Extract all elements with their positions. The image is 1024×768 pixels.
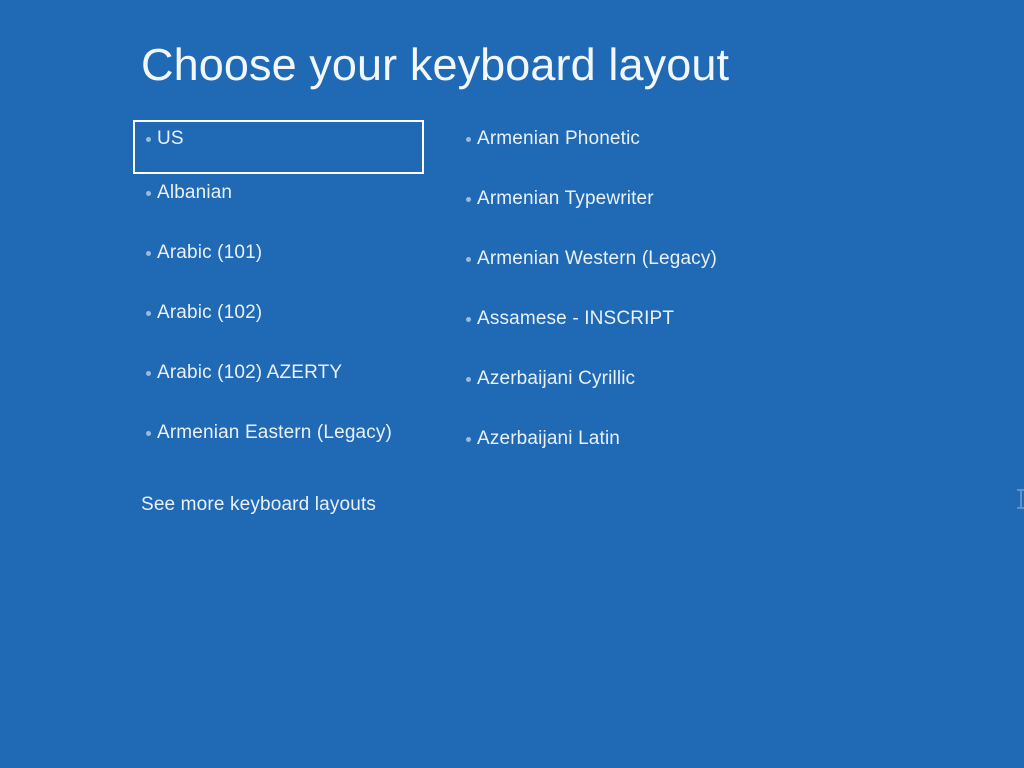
- keyboard-layout-item-label: Azerbaijani Latin: [477, 426, 620, 452]
- bullet-icon: [466, 317, 471, 322]
- keyboard-layout-item-label: Arabic (102) AZERTY: [157, 360, 342, 386]
- text-cursor-icon: [1016, 489, 1024, 509]
- keyboard-layout-item-label: Armenian Western (Legacy): [477, 246, 717, 272]
- keyboard-layout-item[interactable]: Armenian Eastern (Legacy): [133, 414, 433, 474]
- bullet-icon: [146, 251, 151, 256]
- keyboard-layout-item[interactable]: Armenian Typewriter: [453, 180, 773, 240]
- keyboard-layout-item[interactable]: Arabic (101): [133, 234, 433, 294]
- keyboard-layout-item-label: Armenian Typewriter: [477, 186, 654, 212]
- bullet-icon: [146, 311, 151, 316]
- bullet-icon: [466, 137, 471, 142]
- keyboard-layout-item[interactable]: Assamese - INSCRIPT: [453, 300, 773, 360]
- bullet-icon: [466, 437, 471, 442]
- bullet-icon: [146, 137, 151, 142]
- keyboard-layout-item-label: Arabic (101): [157, 240, 262, 266]
- keyboard-layout-column-left: USAlbanianArabic (101)Arabic (102)Arabic…: [133, 120, 433, 474]
- bullet-icon: [146, 371, 151, 376]
- keyboard-layout-column-right: Armenian PhoneticArmenian TypewriterArme…: [453, 120, 773, 480]
- choose-keyboard-layout-screen: Choose your keyboard layout USAlbanianAr…: [0, 0, 1024, 768]
- keyboard-layout-item[interactable]: Armenian Phonetic: [453, 120, 773, 180]
- keyboard-layout-item-label: Azerbaijani Cyrillic: [477, 366, 635, 392]
- bullet-icon: [146, 191, 151, 196]
- keyboard-layout-item[interactable]: Arabic (102) AZERTY: [133, 354, 433, 414]
- bullet-icon: [466, 257, 471, 262]
- keyboard-layout-item[interactable]: Azerbaijani Latin: [453, 420, 773, 480]
- keyboard-layout-item-label: Albanian: [157, 180, 232, 206]
- keyboard-layout-item[interactable]: Arabic (102): [133, 294, 433, 354]
- keyboard-layout-item-label: Assamese - INSCRIPT: [477, 306, 674, 332]
- see-more-keyboard-layouts-link[interactable]: See more keyboard layouts: [141, 492, 376, 518]
- keyboard-layout-item-label: Armenian Phonetic: [477, 126, 640, 152]
- text-cursor-cap-bottom: [1017, 507, 1024, 509]
- keyboard-layout-item-label: Armenian Eastern (Legacy): [157, 420, 392, 446]
- text-cursor-stem: [1020, 491, 1022, 507]
- keyboard-layout-item[interactable]: Albanian: [133, 174, 433, 234]
- keyboard-layout-item[interactable]: Azerbaijani Cyrillic: [453, 360, 773, 420]
- bullet-icon: [466, 377, 471, 382]
- keyboard-layout-item-label: Arabic (102): [157, 300, 262, 326]
- bullet-icon: [146, 431, 151, 436]
- keyboard-layout-item[interactable]: Armenian Western (Legacy): [453, 240, 773, 300]
- keyboard-layout-item[interactable]: US: [133, 120, 424, 174]
- keyboard-layout-list: USAlbanianArabic (101)Arabic (102)Arabic…: [0, 0, 1024, 768]
- bullet-icon: [466, 197, 471, 202]
- keyboard-layout-item-label: US: [157, 126, 184, 152]
